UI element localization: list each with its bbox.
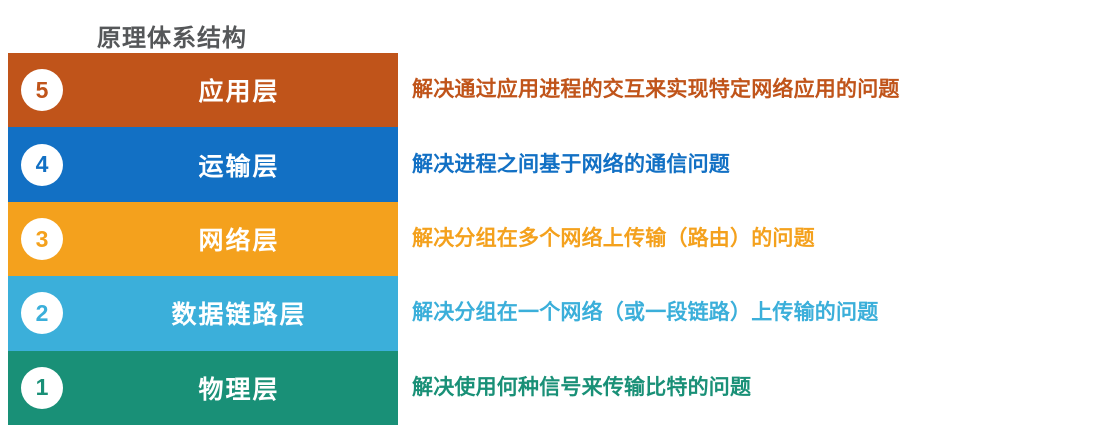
layer-description-row-3: 解决分组在多个网络上传输（路由）的问题 [412, 202, 1112, 276]
layer-description-2: 解决分组在一个网络（或一段链路）上传输的问题 [412, 300, 878, 326]
layer-name-2: 数据链路层 [80, 295, 398, 331]
layer-description-row-2: 解决分组在一个网络（或一段链路）上传输的问题 [412, 276, 1112, 350]
layer-name-3: 网络层 [80, 221, 398, 257]
layer-row-2[interactable]: 2 数据链路层 [8, 276, 398, 350]
layer-name-1: 物理层 [80, 370, 398, 406]
layer-description-row-1: 解决使用何种信号来传输比特的问题 [412, 351, 1112, 425]
layer-row-4[interactable]: 4 运输层 [8, 127, 398, 201]
layer-name-5: 应用层 [80, 72, 398, 108]
layer-description-3: 解决分组在多个网络上传输（路由）的问题 [412, 226, 815, 252]
layer-row-1[interactable]: 1 物理层 [8, 351, 398, 425]
layer-row-3[interactable]: 3 网络层 [8, 202, 398, 276]
layer-description-row-5: 解决通过应用进程的交互来实现特定网络应用的问题 [412, 53, 1112, 127]
layer-row-5[interactable]: 5 应用层 [8, 53, 398, 127]
layer-description-4: 解决进程之间基于网络的通信问题 [412, 152, 730, 178]
layer-number-badge-3: 3 [21, 218, 63, 260]
layer-description-row-4: 解决进程之间基于网络的通信问题 [412, 127, 1112, 201]
layer-description-5: 解决通过应用进程的交互来实现特定网络应用的问题 [412, 77, 900, 103]
page-title: 原理体系结构 [97, 22, 247, 56]
layer-descriptions: 解决通过应用进程的交互来实现特定网络应用的问题 解决进程之间基于网络的通信问题 … [412, 53, 1112, 425]
layer-number-badge-4: 4 [21, 144, 63, 186]
protocol-layer-stack: 5 应用层 4 运输层 3 网络层 2 数据链路层 1 物理层 [8, 53, 398, 425]
layer-number-badge-2: 2 [21, 292, 63, 334]
layer-name-4: 运输层 [80, 147, 398, 183]
layer-description-1: 解决使用何种信号来传输比特的问题 [412, 375, 751, 401]
layer-number-badge-5: 5 [21, 69, 63, 111]
layer-number-badge-1: 1 [21, 367, 63, 409]
